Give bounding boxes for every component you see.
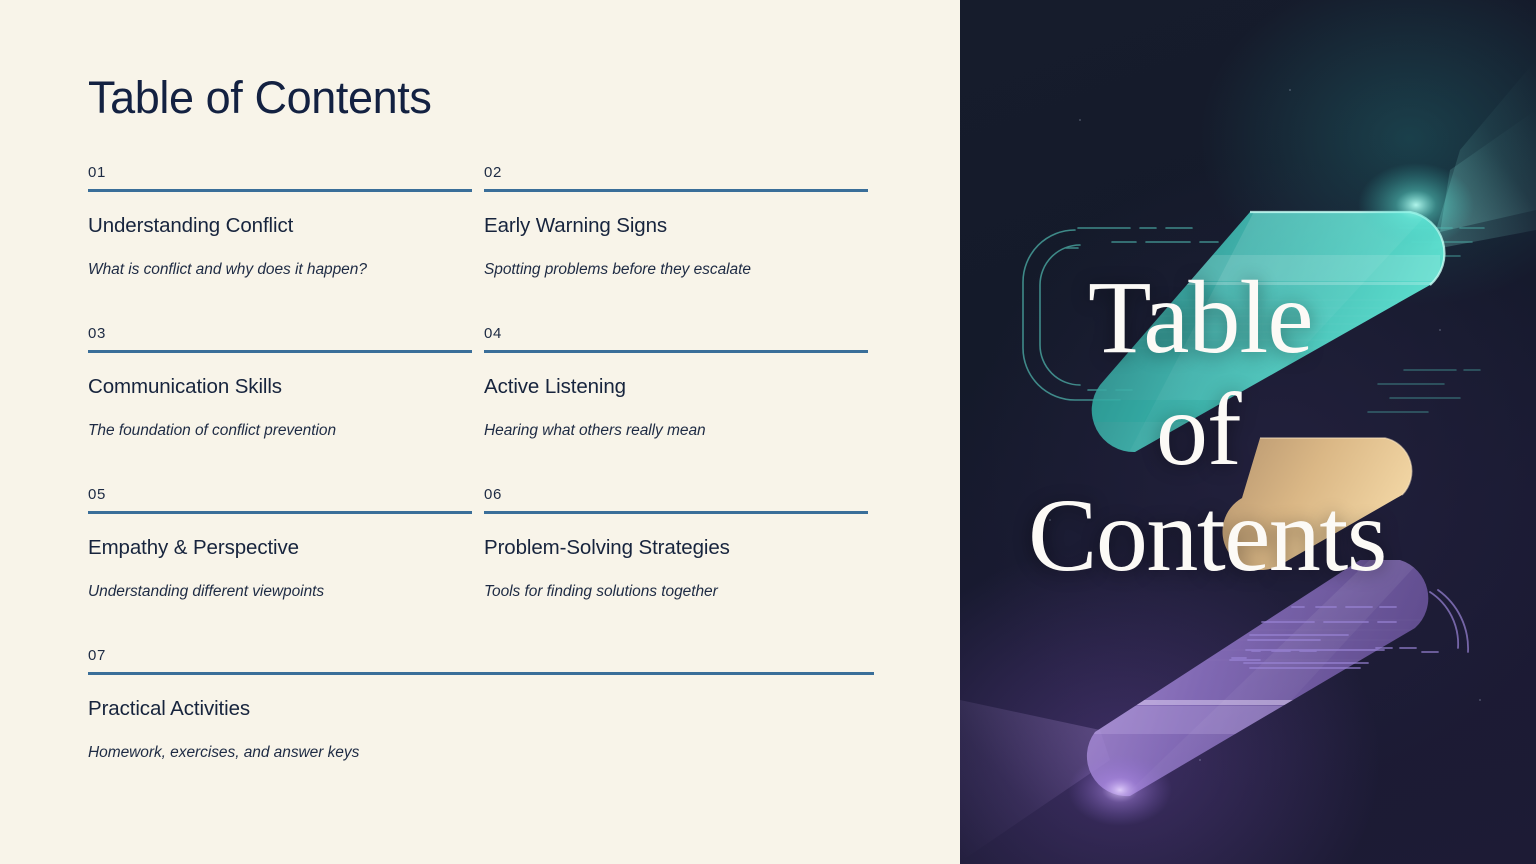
toc-item-03[interactable]: 03 Communication Skills The foundation o… xyxy=(88,326,478,487)
toc-item-description: Spotting problems before they escalate xyxy=(484,260,874,279)
toc-item-heading: Early Warning Signs xyxy=(484,214,874,239)
toc-item-description: The foundation of conflict prevention xyxy=(88,421,478,440)
toc-item-heading: Problem-Solving Strategies xyxy=(484,536,874,561)
artwork-graphics xyxy=(960,0,1536,864)
toc-item-description: Homework, exercises, and answer keys xyxy=(88,743,874,762)
toc-item-07[interactable]: 07 Practical Activities Homework, exerci… xyxy=(88,648,874,809)
toc-item-02[interactable]: 02 Early Warning Signs Spotting problems… xyxy=(484,165,874,326)
toc-item-rule xyxy=(484,511,868,514)
artwork-word-of: of xyxy=(1156,378,1241,482)
toc-item-description: Understanding different viewpoints xyxy=(88,582,478,601)
toc-item-rule xyxy=(88,189,472,192)
toc-item-01[interactable]: 01 Understanding Conflict What is confli… xyxy=(88,165,478,326)
toc-item-rule xyxy=(88,350,472,353)
artwork-word-contents: Contents xyxy=(1028,484,1386,588)
decorative-artwork-panel: Table of Contents xyxy=(960,0,1536,864)
toc-item-rule xyxy=(484,350,868,353)
toc-item-heading: Communication Skills xyxy=(88,375,478,400)
toc-item-description: Tools for finding solutions together xyxy=(484,582,874,601)
page-title: Table of Contents xyxy=(88,74,431,121)
toc-item-rule xyxy=(88,672,874,675)
toc-item-heading: Understanding Conflict xyxy=(88,214,478,239)
toc-item-heading: Active Listening xyxy=(484,375,874,400)
toc-list: 01 Understanding Conflict What is confli… xyxy=(88,165,874,809)
toc-item-number: 01 xyxy=(88,165,478,189)
toc-item-06[interactable]: 06 Problem-Solving Strategies Tools for … xyxy=(484,487,874,648)
decor-teal-lines-mid xyxy=(1368,370,1480,412)
toc-item-number: 07 xyxy=(88,648,874,672)
toc-item-rule xyxy=(484,189,868,192)
toc-item-description: Hearing what others really mean xyxy=(484,421,874,440)
toc-item-number: 05 xyxy=(88,487,478,511)
toc-item-description: What is conflict and why does it happen? xyxy=(88,260,478,279)
toc-item-heading: Practical Activities xyxy=(88,697,874,722)
toc-left-panel: Table of Contents 01 Understanding Confl… xyxy=(0,0,960,864)
toc-item-05[interactable]: 05 Empathy & Perspective Understanding d… xyxy=(88,487,478,648)
toc-item-04[interactable]: 04 Active Listening Hearing what others … xyxy=(484,326,874,487)
toc-item-heading: Empathy & Perspective xyxy=(88,536,478,561)
toc-item-number: 02 xyxy=(484,165,874,189)
toc-item-number: 03 xyxy=(88,326,478,350)
toc-item-rule xyxy=(88,511,472,514)
toc-item-number: 06 xyxy=(484,487,874,511)
toc-item-number: 04 xyxy=(484,326,874,350)
artwork-word-table: Table xyxy=(1088,266,1312,370)
